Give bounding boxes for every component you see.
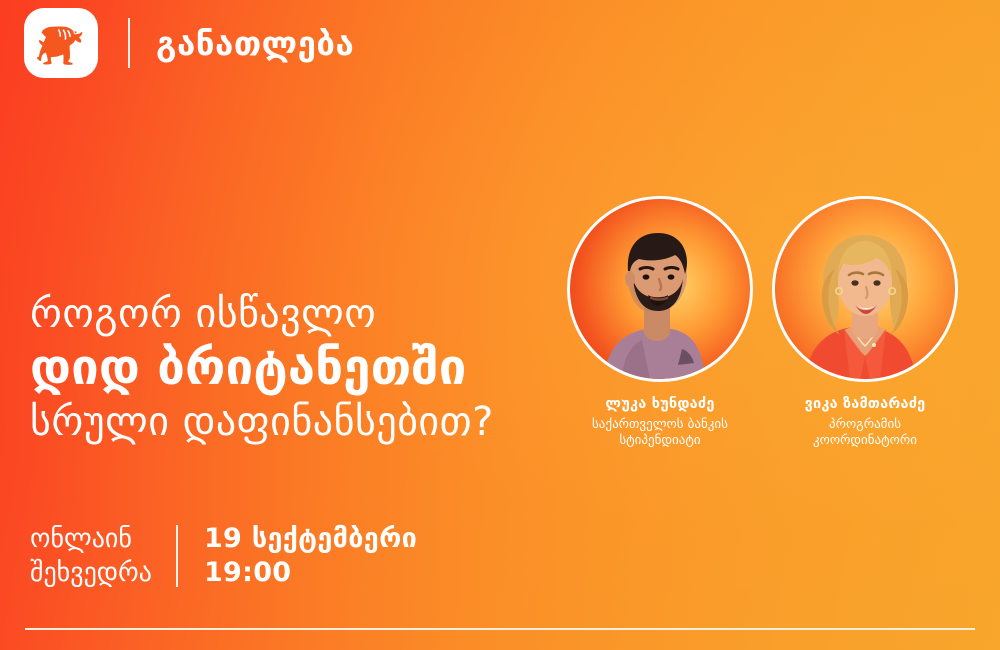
avatar <box>567 196 753 382</box>
speaker-role: პროგრამის კოორდინატორი <box>813 417 917 450</box>
brand-header: განათლება <box>24 8 354 78</box>
event-date: 19 სექტემბერი <box>204 522 417 556</box>
event-mode-line-2: შეხვედრა <box>30 556 152 590</box>
speaker-role-line-1: საქართველოს ბანკის <box>592 417 728 433</box>
event-time: 19:00 <box>204 556 417 590</box>
speaker-role: საქართველოს ბანკის სტიპენდიატი <box>592 417 728 450</box>
event-details: ონლაინ შეხვედრა 19 სექტემბერი 19:00 <box>30 522 417 590</box>
headline-line-2: დიდ ბრიტანეთში <box>30 340 494 396</box>
brand-word: განათლება <box>156 27 354 60</box>
promo-poster: განათლება როგორ ისწავლო დიდ ბრიტანეთში ს… <box>0 0 1000 650</box>
bottom-rule <box>25 628 975 630</box>
speaker-photo-2 <box>775 199 955 379</box>
headline: როგორ ისწავლო დიდ ბრიტანეთში სრული დაფინ… <box>30 288 494 448</box>
speaker-card: ლუკა ხუნდაძე საქართველოს ბანკის სტიპენდი… <box>565 196 755 449</box>
event-mode: ონლაინ შეხვედრა <box>30 522 152 590</box>
speakers-list: ლუკა ხუნდაძე საქართველოს ბანკის სტიპენდი… <box>565 196 960 449</box>
bank-of-georgia-lion-icon <box>33 18 89 68</box>
speaker-role-line-1: პროგრამის <box>813 417 917 433</box>
speaker-name: ვიკა ზამთარაძე <box>805 397 926 413</box>
speaker-role-line-2: კოორდინატორი <box>813 433 917 449</box>
speaker-role-line-2: სტიპენდიატი <box>592 433 728 449</box>
event-divider <box>176 525 178 587</box>
event-when: 19 სექტემბერი 19:00 <box>204 522 417 590</box>
headline-line-1: როგორ ისწავლო <box>30 288 494 340</box>
header-divider <box>128 18 130 68</box>
speaker-card: ვიკა ზამთარაძე პროგრამის კოორდინატორი <box>770 196 960 449</box>
headline-line-3: სრული დაფინანსებით? <box>30 396 494 448</box>
logo-tile <box>24 8 98 78</box>
event-mode-line-1: ონლაინ <box>30 522 152 556</box>
avatar <box>772 196 958 382</box>
speaker-photo-1 <box>570 199 750 379</box>
speaker-name: ლუკა ხუნდაძე <box>605 397 714 413</box>
